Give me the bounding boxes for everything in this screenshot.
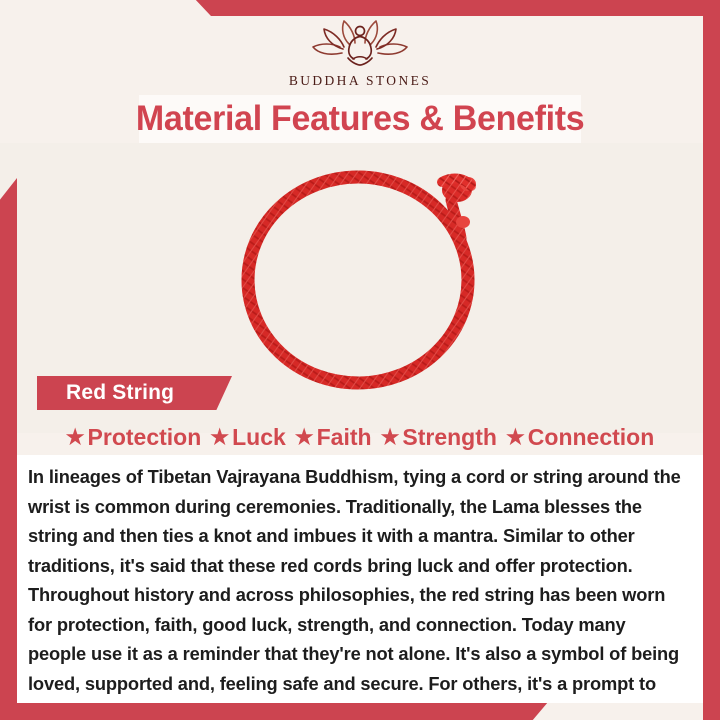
star-icon: ★ xyxy=(506,427,525,448)
infographic-page: BUDDHA STONES Material Features & Benefi… xyxy=(0,0,720,720)
benefit-label: Protection xyxy=(88,424,202,451)
brand-logo: BUDDHA STONES xyxy=(0,16,720,96)
star-icon: ★ xyxy=(210,427,229,448)
product-image-red-string-bracelet xyxy=(225,160,500,390)
description-panel: In lineages of Tibetan Vajrayana Buddhis… xyxy=(17,455,703,703)
page-title: Material Features & Benefits xyxy=(136,99,584,139)
lotus-meditating-figure-icon xyxy=(306,16,414,72)
benefit-label: Connection xyxy=(528,424,655,451)
page-title-band: Material Features & Benefits xyxy=(139,95,581,143)
frame-left-bar xyxy=(0,178,17,720)
benefit-item-faith: ★ Faith xyxy=(295,424,372,451)
benefit-item-connection: ★ Connection xyxy=(506,424,654,451)
benefits-row: ★ Protection ★ Luck ★ Faith ★ Strength ★… xyxy=(17,420,703,454)
star-icon: ★ xyxy=(66,427,85,448)
star-icon: ★ xyxy=(381,427,400,448)
star-icon: ★ xyxy=(295,427,314,448)
benefit-item-protection: ★ Protection xyxy=(66,424,202,451)
benefit-label: Luck xyxy=(232,424,286,451)
benefit-item-strength: ★ Strength xyxy=(381,424,497,451)
benefit-label: Faith xyxy=(317,424,372,451)
material-label: Red String xyxy=(37,381,174,405)
frame-top-bar xyxy=(0,0,720,16)
material-label-ribbon: Red String xyxy=(37,376,232,410)
brand-name: BUDDHA STONES xyxy=(289,73,431,89)
benefit-item-luck: ★ Luck xyxy=(210,424,286,451)
frame-right-bar xyxy=(703,0,720,720)
benefit-label: Strength xyxy=(402,424,497,451)
description-text: In lineages of Tibetan Vajrayana Buddhis… xyxy=(28,462,683,720)
